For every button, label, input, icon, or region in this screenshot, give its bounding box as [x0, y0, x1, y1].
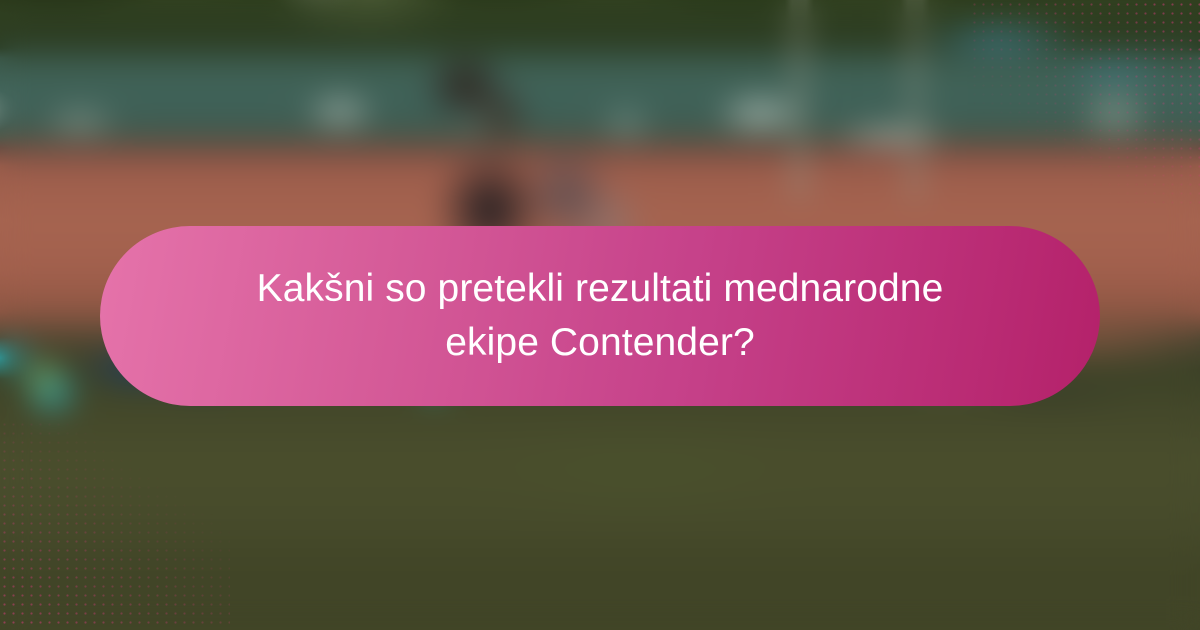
- headline-text: Kakšni so pretekli rezultati mednarodne …: [210, 262, 990, 370]
- headline-pill: Kakšni so pretekli rezultati mednarodne …: [100, 226, 1100, 406]
- screenshot-canvas: Kakšni so pretekli rezultati mednarodne …: [0, 0, 1200, 630]
